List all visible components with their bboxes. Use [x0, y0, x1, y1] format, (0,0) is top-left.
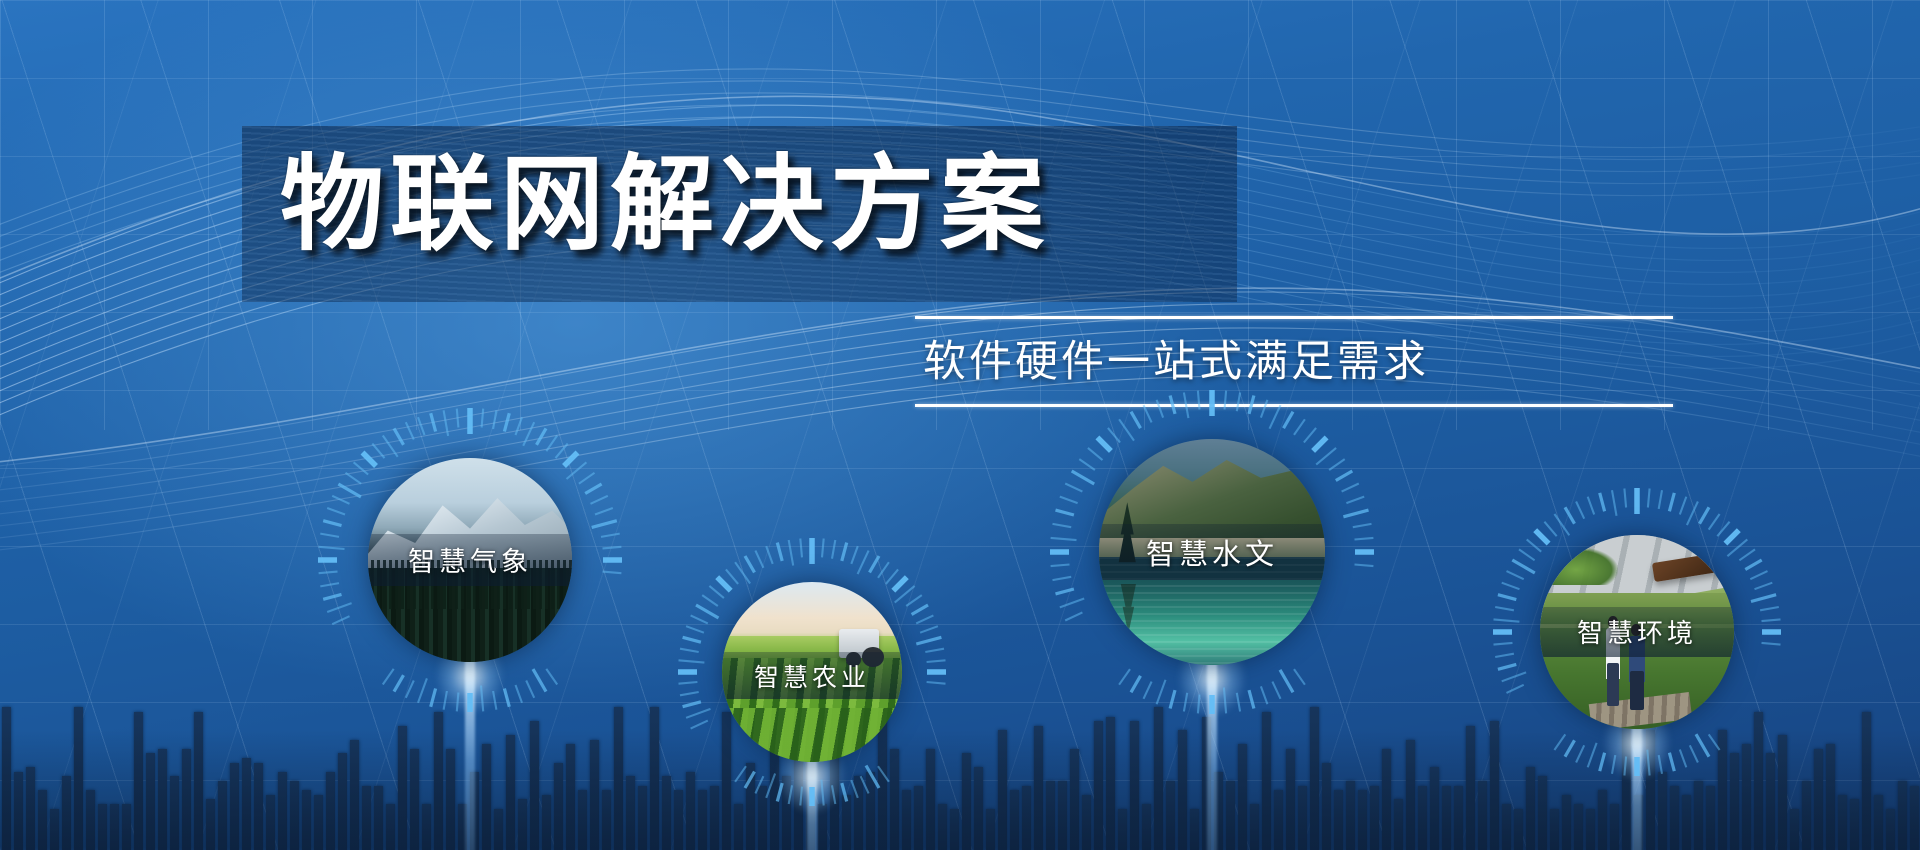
skyline-bar [1250, 804, 1259, 850]
skyline-bar [1910, 786, 1919, 850]
skyline-bar [1118, 809, 1127, 850]
solution-node-image[interactable]: 智慧环境 [1540, 535, 1734, 729]
skyline-bar [734, 804, 743, 850]
skyline-bar [1766, 753, 1775, 850]
skyline-bar [698, 790, 707, 850]
skyline-bar [86, 790, 95, 850]
skyline-bar [1790, 809, 1799, 850]
skyline-bar [1070, 749, 1079, 850]
skyline-bar [1058, 781, 1067, 850]
skyline-bar [1142, 804, 1151, 850]
skyline-bar [1610, 804, 1619, 850]
skyline-bar [998, 730, 1007, 850]
skyline-bar [1226, 781, 1235, 850]
skyline-bar [170, 776, 179, 850]
skyline-bar [1238, 744, 1247, 850]
iot-banner: 物联网解决方案 软件硬件一站式满足需求 智慧气象 智慧农业 智慧水文 [0, 0, 1920, 850]
skyline-bar [566, 744, 575, 850]
skyline-bar [1082, 795, 1091, 850]
skyline-bar [1022, 786, 1031, 850]
skyline-bar [1730, 753, 1739, 850]
skyline-bar [758, 786, 767, 850]
solution-node-label: 智慧环境 [1540, 607, 1734, 656]
skyline-bar [14, 772, 23, 850]
skyline-bar [1214, 772, 1223, 850]
skyline-bar [302, 790, 311, 850]
skyline-bar [1646, 730, 1655, 850]
skyline-bar [146, 753, 155, 850]
skyline-bar [1754, 712, 1763, 850]
skyline-bar [1718, 730, 1727, 850]
skyline-bar [470, 772, 479, 850]
skyline-bar [494, 809, 503, 850]
skyline-bar [338, 753, 347, 850]
skyline-bar [1274, 790, 1283, 850]
skyline-bar [1106, 717, 1115, 850]
skyline-bar [350, 740, 359, 850]
skyline-bar [74, 707, 83, 850]
skyline-bar [1538, 776, 1547, 850]
skyline-bar [1334, 790, 1343, 850]
skyline-bar [362, 786, 371, 850]
skyline-bar [1778, 735, 1787, 850]
skyline-bar [1886, 809, 1895, 850]
skyline-bar [986, 809, 995, 850]
skyline-bar [290, 781, 299, 850]
skyline-bar [1670, 786, 1679, 850]
skyline-bar [1454, 786, 1463, 850]
skyline-bar [410, 749, 419, 850]
skyline-bar [194, 712, 203, 850]
skyline-bar [938, 804, 947, 850]
skyline-bar [1826, 744, 1835, 850]
skyline-bar [902, 790, 911, 850]
floor-fade [0, 730, 1920, 850]
skyline-bar [1550, 809, 1559, 850]
skyline-bar [1202, 717, 1211, 850]
skyline-bar [1478, 781, 1487, 850]
skyline-bar [110, 804, 119, 850]
skyline-bar [854, 776, 863, 850]
solution-node-image[interactable]: 智慧气象 [368, 458, 572, 662]
skyline-bar [530, 721, 539, 850]
skyline-bar [1814, 749, 1823, 850]
skyline-bar [1166, 781, 1175, 850]
skyline-bar [1178, 730, 1187, 850]
skyline-bar [950, 809, 959, 850]
skyline-bar [278, 772, 287, 850]
skyline-bar [326, 772, 335, 850]
skyline-bar [1394, 799, 1403, 850]
skyline-bar [1130, 721, 1139, 850]
skyline-bar [926, 749, 935, 850]
skyline-bar [1742, 744, 1751, 850]
skyline-bar [602, 790, 611, 850]
skyline-bar [818, 804, 827, 850]
skyline-bar [1526, 767, 1535, 850]
skyline-bar [518, 799, 527, 850]
skyline-bar [1190, 809, 1199, 850]
skyline-bar [242, 758, 251, 850]
skyline-bar [1046, 781, 1055, 850]
skyline-bar [1514, 809, 1523, 850]
subtitle-rule-bottom [915, 404, 1673, 407]
skyline-bar [1862, 712, 1871, 850]
page-subtitle: 软件硬件一站式满足需求 [915, 319, 1675, 404]
skyline-bar [542, 795, 551, 850]
skyline-bar [866, 772, 875, 850]
solution-node-label: 智慧水文 [1099, 524, 1325, 579]
skyline-bar [506, 735, 515, 850]
skyline-bar [1310, 707, 1319, 850]
skyline-bar [782, 776, 791, 850]
skyline-bar [1370, 786, 1379, 850]
skyline-bar [1574, 804, 1583, 850]
light-beam [807, 756, 817, 850]
skyline-bar [1466, 726, 1475, 850]
light-beam [465, 656, 475, 850]
skyline-bar [1694, 781, 1703, 850]
skyline-bar [686, 772, 695, 850]
skyline-bar [890, 749, 899, 850]
skyline-bar [458, 804, 467, 850]
skyline-bar [1634, 795, 1643, 850]
skyline-bar [1034, 726, 1043, 850]
skyline-bar [398, 726, 407, 850]
skyline-bar [206, 799, 215, 850]
skyline-bar [1562, 795, 1571, 850]
skyline-bar [614, 707, 623, 850]
skyline-bar [1154, 707, 1163, 850]
skyline-bar [1346, 781, 1355, 850]
skyline-bar [134, 712, 143, 850]
solution-node-image[interactable]: 智慧水文 [1099, 439, 1325, 665]
skyline-bar [122, 804, 131, 850]
skyline-bar [2, 707, 11, 850]
skyline-bar [710, 786, 719, 850]
skyline-bar [98, 804, 107, 850]
skyline-bar [1298, 786, 1307, 850]
skyline-bar [1010, 790, 1019, 850]
skyline-bar [962, 753, 971, 850]
skyline-bar [638, 786, 647, 850]
skyline-bar [1262, 712, 1271, 850]
skyline-bar [1286, 749, 1295, 850]
skyline-bar [746, 763, 755, 850]
skyline-bar [266, 795, 275, 850]
skyline-bar [554, 763, 563, 850]
skyline-bar [1406, 740, 1415, 850]
skyline-bar [974, 767, 983, 850]
page-title: 物联网解决方案 [280, 134, 1280, 278]
skyline-bar [422, 804, 431, 850]
skyline-bar [482, 744, 491, 850]
skyline-bar [1850, 799, 1859, 850]
skyline-bar [218, 781, 227, 850]
skyline-bar [1706, 786, 1715, 850]
skyline-bar [1442, 786, 1451, 850]
solution-node-label: 智慧气象 [368, 534, 572, 585]
skyline-bar [674, 790, 683, 850]
skyline-bar [374, 786, 383, 850]
skyline-bar [1682, 795, 1691, 850]
skyline-bar [182, 749, 191, 850]
skyline-bar [158, 749, 167, 850]
skyline-bar [662, 776, 671, 850]
skyline-bar [1898, 781, 1907, 850]
skyline-bar [1802, 781, 1811, 850]
skyline-bar [1358, 790, 1367, 850]
skyline-bar [1094, 721, 1103, 850]
skyline-bar [1658, 772, 1667, 850]
skyline-bar [38, 790, 47, 850]
skyline-bar [1598, 790, 1607, 850]
skyline-bar [50, 809, 59, 850]
skyline-bar [842, 795, 851, 850]
skyline-bar [1502, 804, 1511, 850]
skyline-bar [314, 795, 323, 850]
light-beam [1632, 723, 1642, 850]
skyline-bar [1322, 763, 1331, 850]
skyline-bar [1382, 749, 1391, 850]
skyline-bar [386, 804, 395, 850]
skyline-bar [1874, 795, 1883, 850]
skyline-bar [650, 707, 659, 850]
skyline-bar [434, 712, 443, 850]
skyline-bar [1430, 767, 1439, 850]
skyline-bar [1490, 721, 1499, 850]
skyline-bar [1418, 786, 1427, 850]
solution-node-label: 智慧农业 [722, 652, 902, 700]
skyline-bar [254, 763, 263, 850]
skyline-bar [26, 767, 35, 850]
skyline-bar [1838, 795, 1847, 850]
skyline-bar [446, 749, 455, 850]
skyline-bar [590, 740, 599, 850]
skyline-bar [914, 786, 923, 850]
light-beam [1207, 659, 1217, 850]
skyline-bar [62, 776, 71, 850]
solution-node-image[interactable]: 智慧农业 [722, 582, 902, 762]
skyline-bar [230, 763, 239, 850]
skyline-bar [626, 776, 635, 850]
skyline-bar [578, 790, 587, 850]
subtitle-block: 软件硬件一站式满足需求 [915, 316, 1675, 407]
skyline-bar [1586, 809, 1595, 850]
